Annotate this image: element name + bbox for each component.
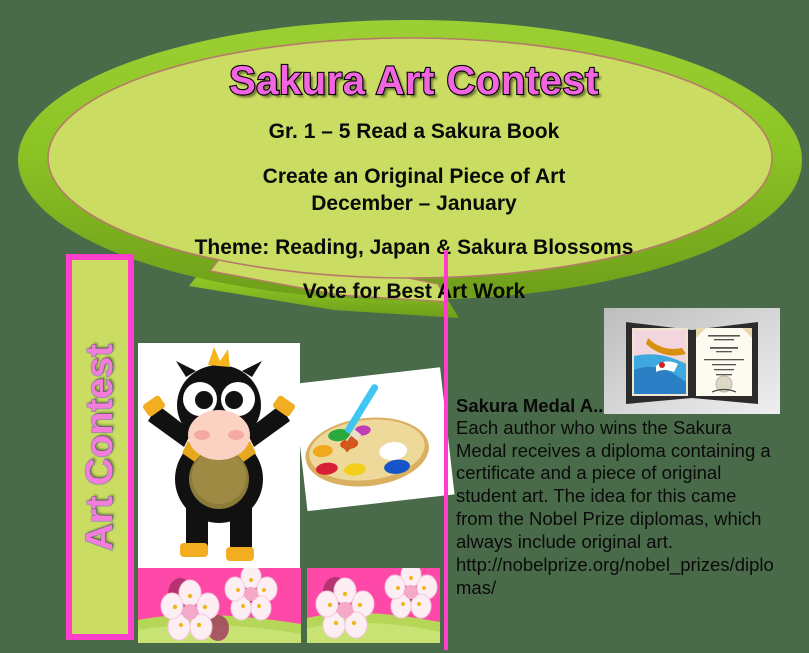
cherry-blossom-icon [138, 568, 301, 643]
cherry-blossom-strip-right [307, 568, 440, 643]
art-contest-vertical-banner: Art Contest [66, 254, 134, 640]
banner-label: Art Contest [79, 344, 122, 551]
paint-palette-icon [293, 367, 455, 511]
magenta-vertical-divider [444, 250, 448, 650]
poster-stage: Sakura Art Contest Gr. 1 – 5 Read a Saku… [0, 0, 809, 653]
diploma-icon [604, 308, 780, 414]
sakura-medal-body: Each author who wins the Sakura Medal re… [456, 417, 774, 600]
banner-inner: Art Contest [72, 260, 128, 634]
cherry-blossom-icon [307, 568, 440, 643]
sakura-medal-diploma-photo [604, 308, 780, 414]
sakura-medal-text-block: Sakura Medal A... Each author who wins t… [456, 396, 774, 599]
cherry-blossom-strip-left [138, 568, 301, 643]
cow-mascot-artwork [138, 343, 300, 571]
paint-palette-artwork [293, 367, 455, 511]
cow-mascot-icon [138, 343, 300, 571]
